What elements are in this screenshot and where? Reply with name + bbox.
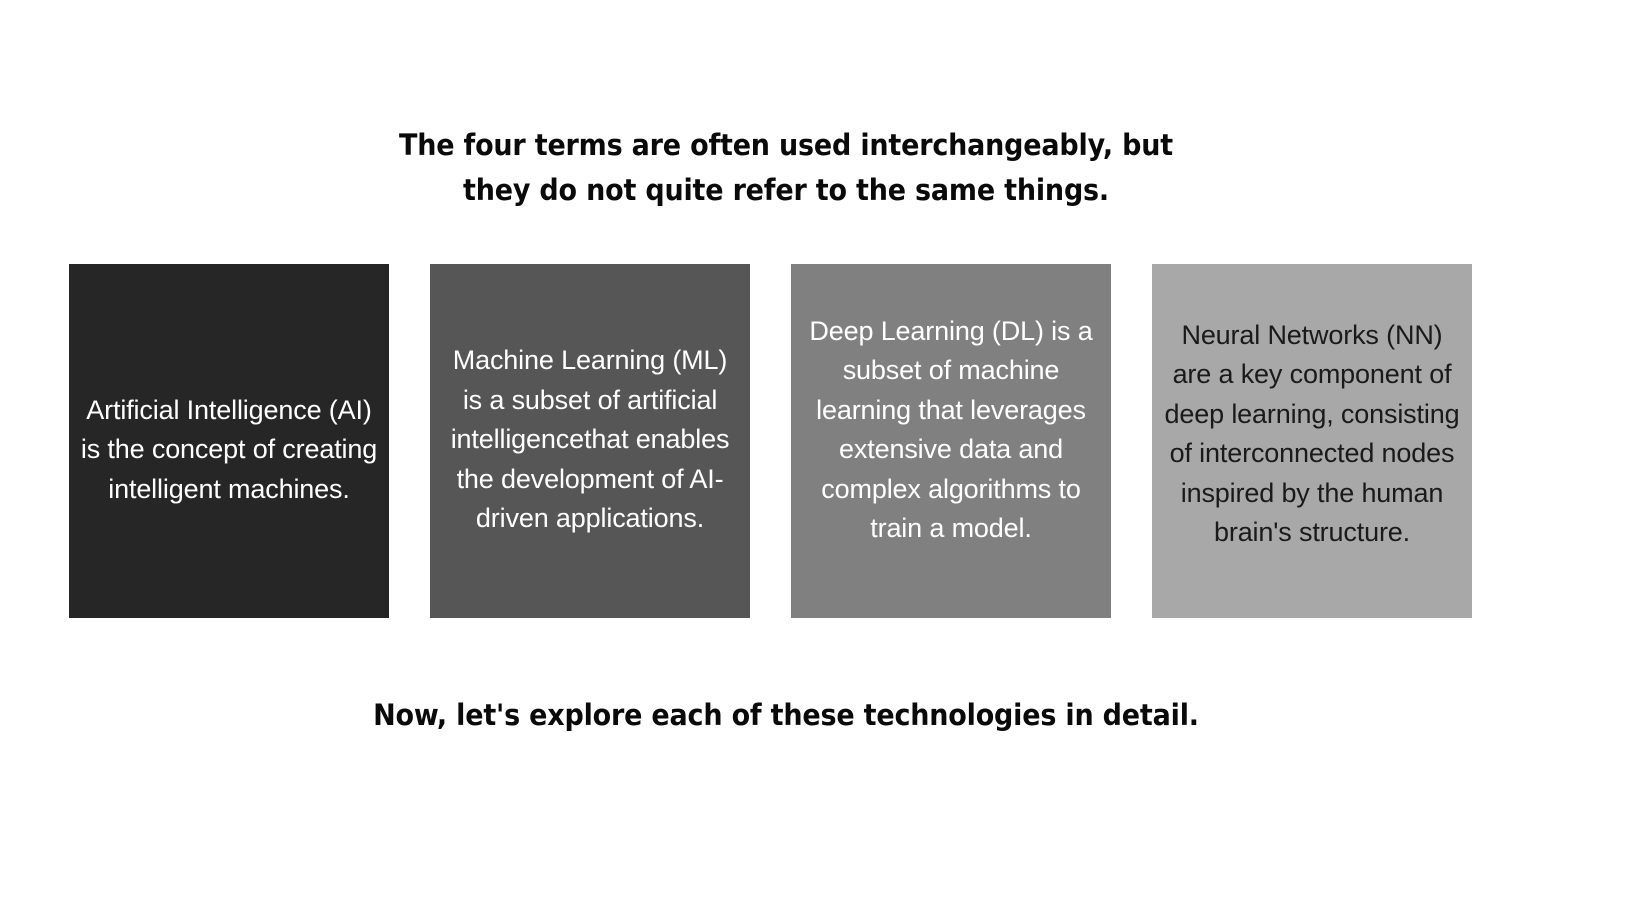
slide-canvas: The four terms are often used interchang… bbox=[0, 0, 1640, 924]
slide-caption: Now, let's explore each of these technol… bbox=[55, 693, 1517, 738]
concept-card-text-artificial-intelligence: Artificial Intelligence (AI) is the conc… bbox=[69, 391, 389, 510]
concept-card-neural-networks[interactable]: Neural Networks (NN) are a key component… bbox=[1152, 264, 1472, 618]
concept-card-machine-learning[interactable]: Machine Learning (ML) is a subset of art… bbox=[430, 264, 750, 618]
concept-card-text-neural-networks: Neural Networks (NN) are a key component… bbox=[1152, 316, 1472, 553]
concept-card-row: Artificial Intelligence (AI) is the conc… bbox=[0, 264, 1640, 618]
concept-card-artificial-intelligence[interactable]: Artificial Intelligence (AI) is the conc… bbox=[69, 264, 389, 618]
concept-card-text-deep-learning: Deep Learning (DL) is a subset of machin… bbox=[791, 312, 1111, 549]
concept-card-deep-learning[interactable]: Deep Learning (DL) is a subset of machin… bbox=[791, 264, 1111, 618]
concept-card-text-machine-learning: Machine Learning (ML) is a subset of art… bbox=[430, 341, 750, 539]
slide-heading: The four terms are often used interchang… bbox=[55, 123, 1517, 213]
